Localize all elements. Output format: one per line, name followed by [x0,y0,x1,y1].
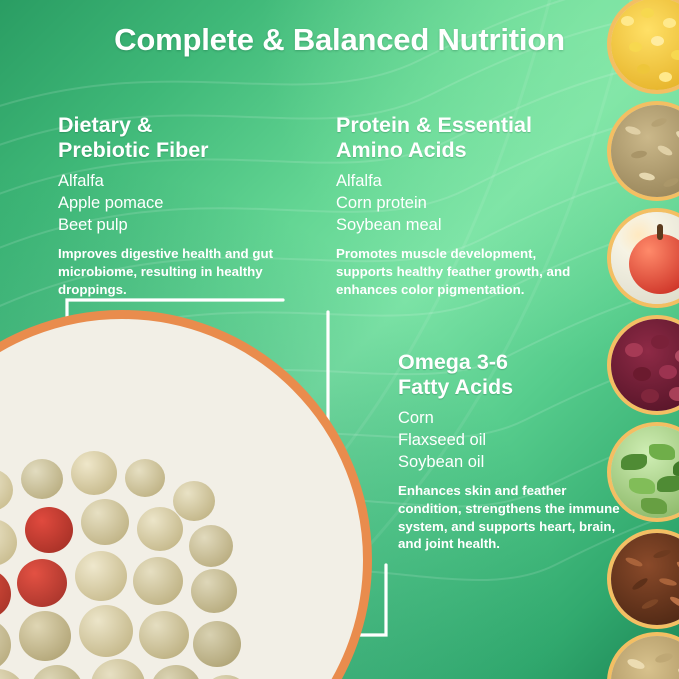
callout-description: Enhances skin and feather condition, str… [398,482,623,553]
corn-kernels-photo [607,0,679,94]
leafy-greens-photo [607,422,679,522]
food-bowl-image [0,310,372,679]
callout-heading: Dietary & Prebiotic Fiber [58,113,298,163]
flaxseed-photo [607,529,679,629]
callout-omega-3-6-fatty-acids: Omega 3-6 Fatty Acids Corn Flaxseed oil … [398,350,623,553]
callout-ingredient-list: Alfalfa Corn protein Soybean meal [336,170,584,236]
apple-photo [607,208,679,308]
dried-berries-photo [607,315,679,415]
callout-description: Promotes muscle development, supports he… [336,245,584,298]
kibble-pile [0,319,363,679]
callout-protein-essential-amino-acids: Protein & Essential Amino Acids Alfalfa … [336,113,584,298]
page-title: Complete & Balanced Nutrition [0,22,679,58]
grain-photo [607,632,679,679]
infographic-canvas: Complete & Balanced Nutrition [0,0,679,679]
seed-mix-photo [607,101,679,201]
callout-ingredient-list: Alfalfa Apple pomace Beet pulp [58,170,298,236]
callout-heading: Omega 3-6 Fatty Acids [398,350,623,400]
callout-ingredient-list: Corn Flaxseed oil Soybean oil [398,407,623,473]
ingredient-photo-strip [607,0,679,679]
callout-dietary-prebiotic-fiber: Dietary & Prebiotic Fiber Alfalfa Apple … [58,113,298,298]
callout-description: Improves digestive health and gut microb… [58,245,298,298]
callout-heading: Protein & Essential Amino Acids [336,113,584,163]
